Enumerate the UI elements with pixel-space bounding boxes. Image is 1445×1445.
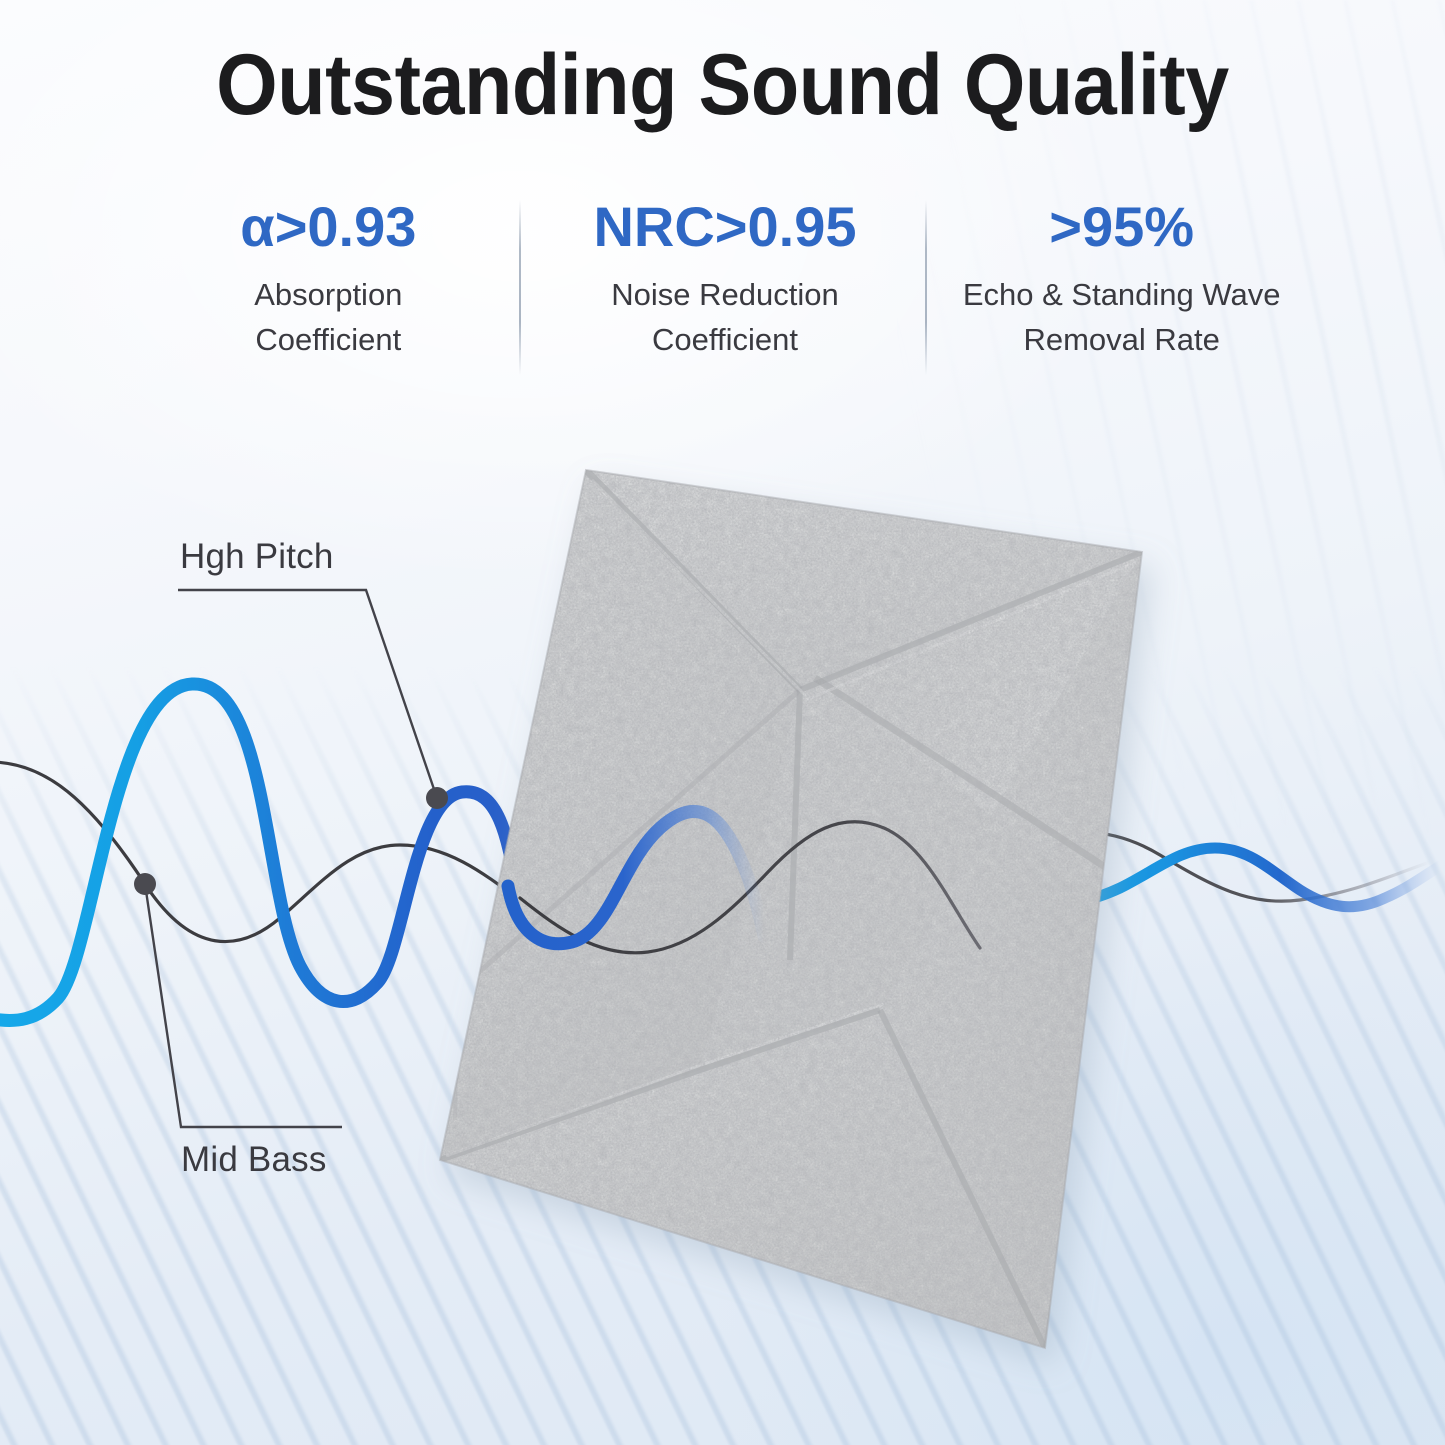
stat-value: NRC>0.95 xyxy=(541,195,910,259)
stat-echo-removal-rate: >95% Echo & Standing Wave Removal Rate xyxy=(923,195,1320,363)
stat-label: Absorption Coefficient xyxy=(144,273,513,363)
stat-label-line: Echo & Standing Wave xyxy=(937,273,1306,318)
stats-row: α>0.93 Absorption Coefficient NRC>0.95 N… xyxy=(130,195,1320,363)
stat-value: α>0.93 xyxy=(144,195,513,259)
stat-divider xyxy=(519,200,521,375)
callout-label-mid-bass: Mid Bass xyxy=(181,1140,327,1180)
page-title: Outstanding Sound Quality xyxy=(58,40,1387,130)
stat-label-line: Removal Rate xyxy=(937,318,1306,363)
callout-label-high-pitch: Hgh Pitch xyxy=(180,537,334,577)
stat-label: Noise Reduction Coefficient xyxy=(541,273,910,363)
background-streaks-lower xyxy=(0,665,1445,1445)
stat-label-line: Coefficient xyxy=(541,318,910,363)
stat-label-line: Coefficient xyxy=(144,318,513,363)
stat-label-line: Absorption xyxy=(144,273,513,318)
stat-absorption-coefficient: α>0.93 Absorption Coefficient xyxy=(130,195,527,363)
stat-value: >95% xyxy=(937,195,1306,259)
stat-divider xyxy=(925,200,927,375)
infographic-poster: Outstanding Sound Quality α>0.93 Absorpt… xyxy=(0,0,1445,1445)
stat-label-line: Noise Reduction xyxy=(541,273,910,318)
stat-label: Echo & Standing Wave Removal Rate xyxy=(937,273,1306,363)
stat-noise-reduction-coefficient: NRC>0.95 Noise Reduction Coefficient xyxy=(527,195,924,363)
